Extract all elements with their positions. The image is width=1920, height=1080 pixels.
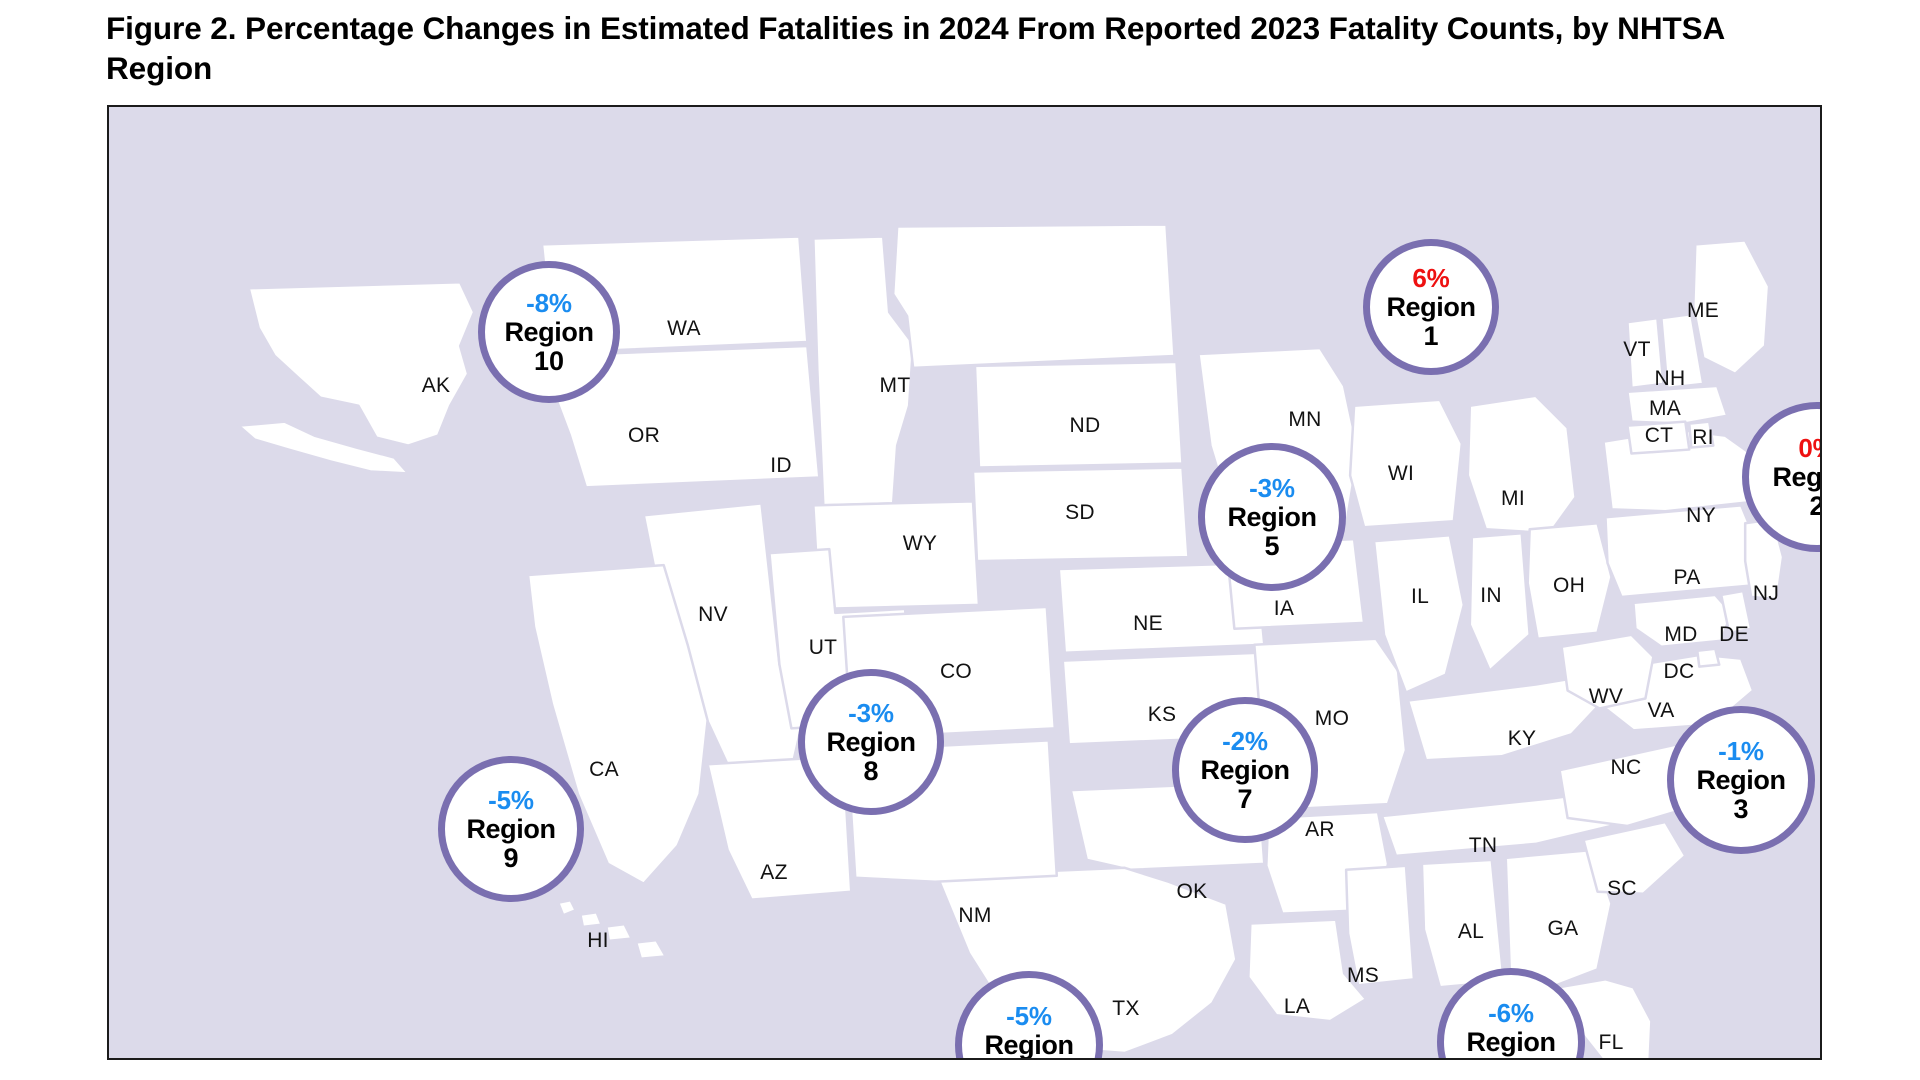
state-shape-ND bbox=[975, 362, 1183, 468]
region-number-1: 1 bbox=[1423, 323, 1438, 350]
state-shape-RI bbox=[1689, 422, 1713, 448]
region-percent-6: -5% bbox=[1006, 1003, 1052, 1029]
region-bubble-1[interactable]: 6%Region1 bbox=[1363, 239, 1499, 375]
region-name-10: Region bbox=[504, 319, 593, 346]
state-shape-MA bbox=[1627, 386, 1727, 424]
state-shape-CT bbox=[1627, 422, 1689, 454]
state-shape-SC bbox=[1584, 822, 1686, 894]
region-bubble-10[interactable]: -8%Region10 bbox=[478, 261, 620, 403]
state-shape-MS bbox=[1346, 866, 1414, 985]
region-percent-10: -8% bbox=[526, 290, 572, 316]
us-map-graphic bbox=[109, 107, 1820, 1058]
region-bubble-8[interactable]: -3%Region8 bbox=[798, 669, 944, 815]
region-percent-8: -3% bbox=[848, 700, 894, 726]
region-number-7: 7 bbox=[1237, 786, 1252, 813]
state-shape-HI bbox=[560, 902, 664, 958]
region-bubble-3[interactable]: -1%Region3 bbox=[1667, 706, 1815, 854]
region-number-9: 9 bbox=[503, 845, 518, 872]
region-name-9: Region bbox=[466, 816, 555, 843]
state-shape-AL bbox=[1422, 860, 1504, 987]
region-number-3: 3 bbox=[1733, 796, 1748, 823]
state-shape-SD bbox=[973, 467, 1188, 561]
state-shape-WY bbox=[813, 501, 979, 609]
region-bubble-9[interactable]: -5%Region9 bbox=[438, 756, 584, 902]
region-name-7: Region bbox=[1200, 757, 1289, 784]
region-name-3: Region bbox=[1696, 767, 1785, 794]
state-shape-MI bbox=[1468, 396, 1576, 533]
region-number-4: 4 bbox=[1503, 1058, 1518, 1061]
region-number-8: 8 bbox=[863, 758, 878, 785]
region-bubble-7[interactable]: -2%Region7 bbox=[1172, 697, 1318, 843]
region-percent-5: -3% bbox=[1249, 475, 1295, 501]
region-percent-3: -1% bbox=[1718, 738, 1764, 764]
region-name-4: Region bbox=[1466, 1029, 1555, 1056]
state-shape-WI bbox=[1350, 400, 1462, 527]
state-shape-ME bbox=[1693, 240, 1769, 373]
region-number-2: 2 bbox=[1809, 493, 1822, 520]
state-shape-DC bbox=[1697, 649, 1719, 667]
state-shape-PA bbox=[1606, 505, 1758, 597]
region-percent-1: 6% bbox=[1412, 265, 1449, 291]
state-shape-VT bbox=[1627, 318, 1663, 388]
state-shape-MT bbox=[893, 225, 1174, 368]
region-percent-9: -5% bbox=[488, 787, 534, 813]
state-shape-MD bbox=[1633, 595, 1731, 647]
region-number-5: 5 bbox=[1264, 533, 1279, 560]
state-shape-OH bbox=[1528, 523, 1612, 639]
map-panel: AKWAMTORIDNDMNSDWIMIWYNVUTCONEIAILINOHNY… bbox=[107, 105, 1822, 1060]
region-name-2: Region bbox=[1772, 464, 1822, 491]
region-bubble-5[interactable]: -3%Region5 bbox=[1198, 443, 1346, 591]
region-name-8: Region bbox=[826, 729, 915, 756]
region-name-1: Region bbox=[1386, 294, 1475, 321]
region-number-10: 10 bbox=[534, 348, 564, 375]
region-percent-2: 0% bbox=[1798, 435, 1822, 461]
region-name-6: Region bbox=[984, 1032, 1073, 1059]
state-shape-IN bbox=[1470, 533, 1530, 670]
region-name-5: Region bbox=[1227, 504, 1316, 531]
region-percent-7: -2% bbox=[1222, 728, 1268, 754]
figure-page: Figure 2. Percentage Changes in Estimate… bbox=[0, 0, 1920, 1080]
page-title: Figure 2. Percentage Changes in Estimate… bbox=[106, 8, 1746, 89]
region-percent-4: -6% bbox=[1488, 1000, 1534, 1026]
